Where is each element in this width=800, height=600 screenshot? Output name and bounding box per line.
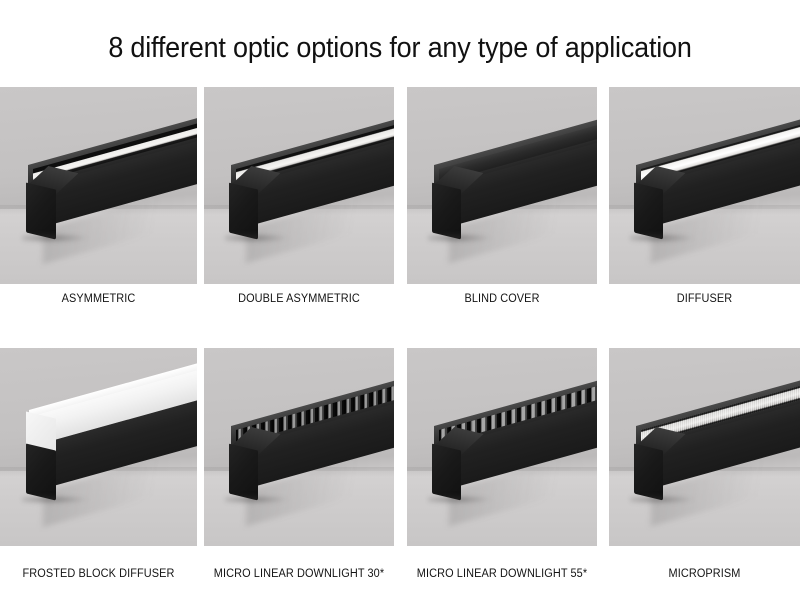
contact-shadow [428, 495, 493, 505]
luminaire-micro-linear-55 [407, 348, 597, 546]
contact-shadow [225, 495, 290, 505]
contact-shadow [22, 233, 89, 243]
optic-options-page: 8 different optic options for any type o… [0, 0, 800, 600]
luminaire-asymmetric [0, 87, 197, 284]
luminaire-end-cap [432, 444, 461, 501]
optic-tile-frosted-block-diffuser[interactable] [0, 348, 197, 546]
luminaire-end-cap [432, 182, 461, 239]
optic-tile-micro-linear-downlight-30[interactable] [204, 348, 394, 546]
luminaire-end-cap [634, 444, 663, 501]
optic-label-micro-linear-downlight-30: MICRO LINEAR DOWNLIGHT 30* [209, 567, 390, 581]
optic-tile-micro-linear-downlight-55[interactable] [407, 348, 597, 546]
luminaire-frosted-block [0, 348, 197, 546]
optic-label-double-asymmetric: DOUBLE ASYMMETRIC [209, 292, 390, 306]
contact-shadow [22, 495, 89, 505]
luminaire-microprism [609, 348, 800, 546]
optic-tile-double-asymmetric[interactable] [204, 87, 394, 284]
luminaire-double-asymmetric [204, 87, 394, 284]
luminaire-blind-cover [407, 87, 597, 284]
luminaire-end-cap [634, 182, 663, 239]
contact-shadow [630, 495, 695, 505]
optic-tile-diffuser[interactable] [609, 87, 800, 284]
optic-label-blind-cover: BLIND COVER [412, 292, 593, 306]
optic-tile-blind-cover[interactable] [407, 87, 597, 284]
optic-tile-asymmetric[interactable] [0, 87, 197, 284]
luminaire-end-cap [26, 443, 56, 501]
luminaire-micro-linear-30 [204, 348, 394, 546]
optic-label-asymmetric: ASYMMETRIC [5, 292, 192, 306]
optic-label-diffuser: DIFFUSER [614, 292, 795, 306]
optic-label-frosted-block-diffuser: FROSTED BLOCK DIFFUSER [5, 567, 192, 581]
luminaire-end-cap [229, 182, 258, 239]
optic-label-microprism: MICROPRISM [614, 567, 795, 581]
optic-tile-microprism[interactable] [609, 348, 800, 546]
optic-grid-row-2 [0, 348, 800, 546]
contact-shadow [225, 233, 290, 243]
luminaire-end-cap [26, 182, 56, 239]
luminaire-diffuser [609, 87, 800, 284]
optic-grid-row-1 [0, 87, 800, 284]
optic-label-micro-linear-downlight-55: MICRO LINEAR DOWNLIGHT 55* [412, 567, 593, 581]
page-title: 8 different optic options for any type o… [28, 27, 772, 69]
contact-shadow [630, 233, 695, 243]
contact-shadow [428, 233, 493, 243]
luminaire-end-cap [229, 444, 258, 501]
